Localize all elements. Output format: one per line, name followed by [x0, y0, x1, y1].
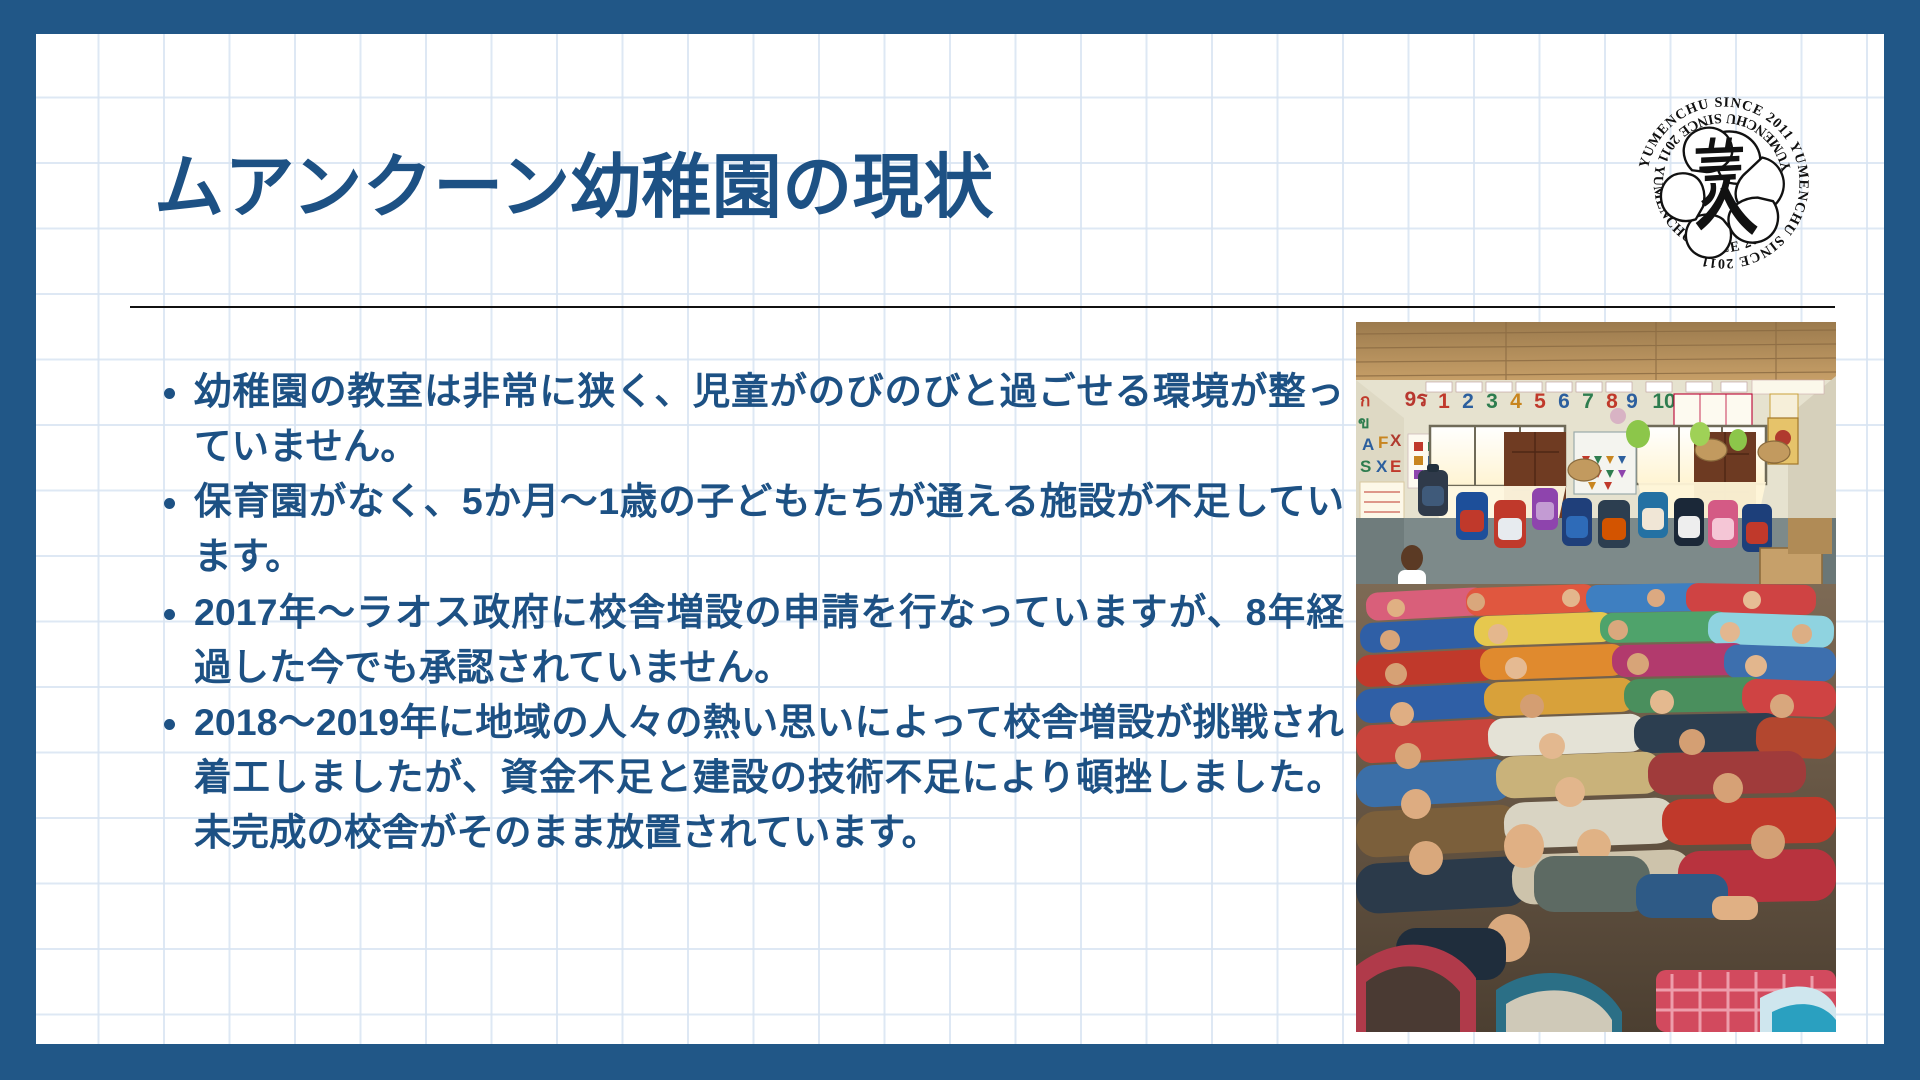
slide-canvas: ムアンクーン幼稚園の現状 YUMENCHU SINCE 2011 YUMENCH… — [36, 34, 1884, 1044]
svg-text:10: 10 — [1652, 390, 1675, 413]
svg-text:1: 1 — [1438, 390, 1450, 413]
title-divider — [130, 306, 1835, 308]
bullet-item: 保育園がなく、5か月〜1歳の子どもたちが通える施設が不足しています。 — [154, 474, 1344, 584]
svg-text:F: F — [1378, 433, 1388, 452]
svg-text:ข: ข — [1358, 413, 1370, 432]
slide-root: ムアンクーン幼稚園の現状 YUMENCHU SINCE 2011 YUMENCH… — [0, 0, 1920, 1080]
kindergarten-classroom-photo: 9ร 1 2 3 4 5 6 7 8 9 10 11 12 — [1356, 322, 1836, 1032]
bullet-item: 幼稚園の教室は非常に狭く、児童がのびのびと過ごせる環境が整っていません。 — [154, 364, 1344, 474]
svg-text:9: 9 — [1626, 390, 1638, 413]
svg-text:A: A — [1362, 435, 1374, 454]
svg-text:5: 5 — [1534, 390, 1546, 413]
svg-text:6: 6 — [1558, 390, 1570, 413]
bullet-list: 幼稚園の教室は非常に狭く、児童がのびのびと過ごせる環境が整っていません。 保育園… — [154, 364, 1344, 860]
bullet-item: 2017年〜ラオス政府に校舎増設の申請を行なっていますが、8年経過した今でも承認… — [154, 585, 1344, 695]
page-title: ムアンクーン幼稚園の現状 — [154, 152, 994, 222]
svg-text:X: X — [1390, 431, 1402, 450]
svg-text:S: S — [1360, 457, 1371, 476]
bullet-item: 2018〜2019年に地域の人々の熱い思いによって校舎増設が挑戦され着工しました… — [154, 695, 1344, 860]
svg-text:E: E — [1390, 457, 1401, 476]
svg-text:7: 7 — [1582, 390, 1594, 413]
svg-text:X: X — [1376, 457, 1388, 476]
svg-text:ก: ก — [1360, 391, 1370, 410]
svg-text:3: 3 — [1486, 390, 1498, 413]
yumenchu-logo: YUMENCHU SINCE 2011 YUMENCHU SINCE 2011 … — [1632, 92, 1814, 274]
svg-text:2: 2 — [1462, 390, 1474, 413]
svg-text:9ร: 9ร — [1405, 388, 1429, 411]
svg-text:4: 4 — [1510, 390, 1522, 413]
